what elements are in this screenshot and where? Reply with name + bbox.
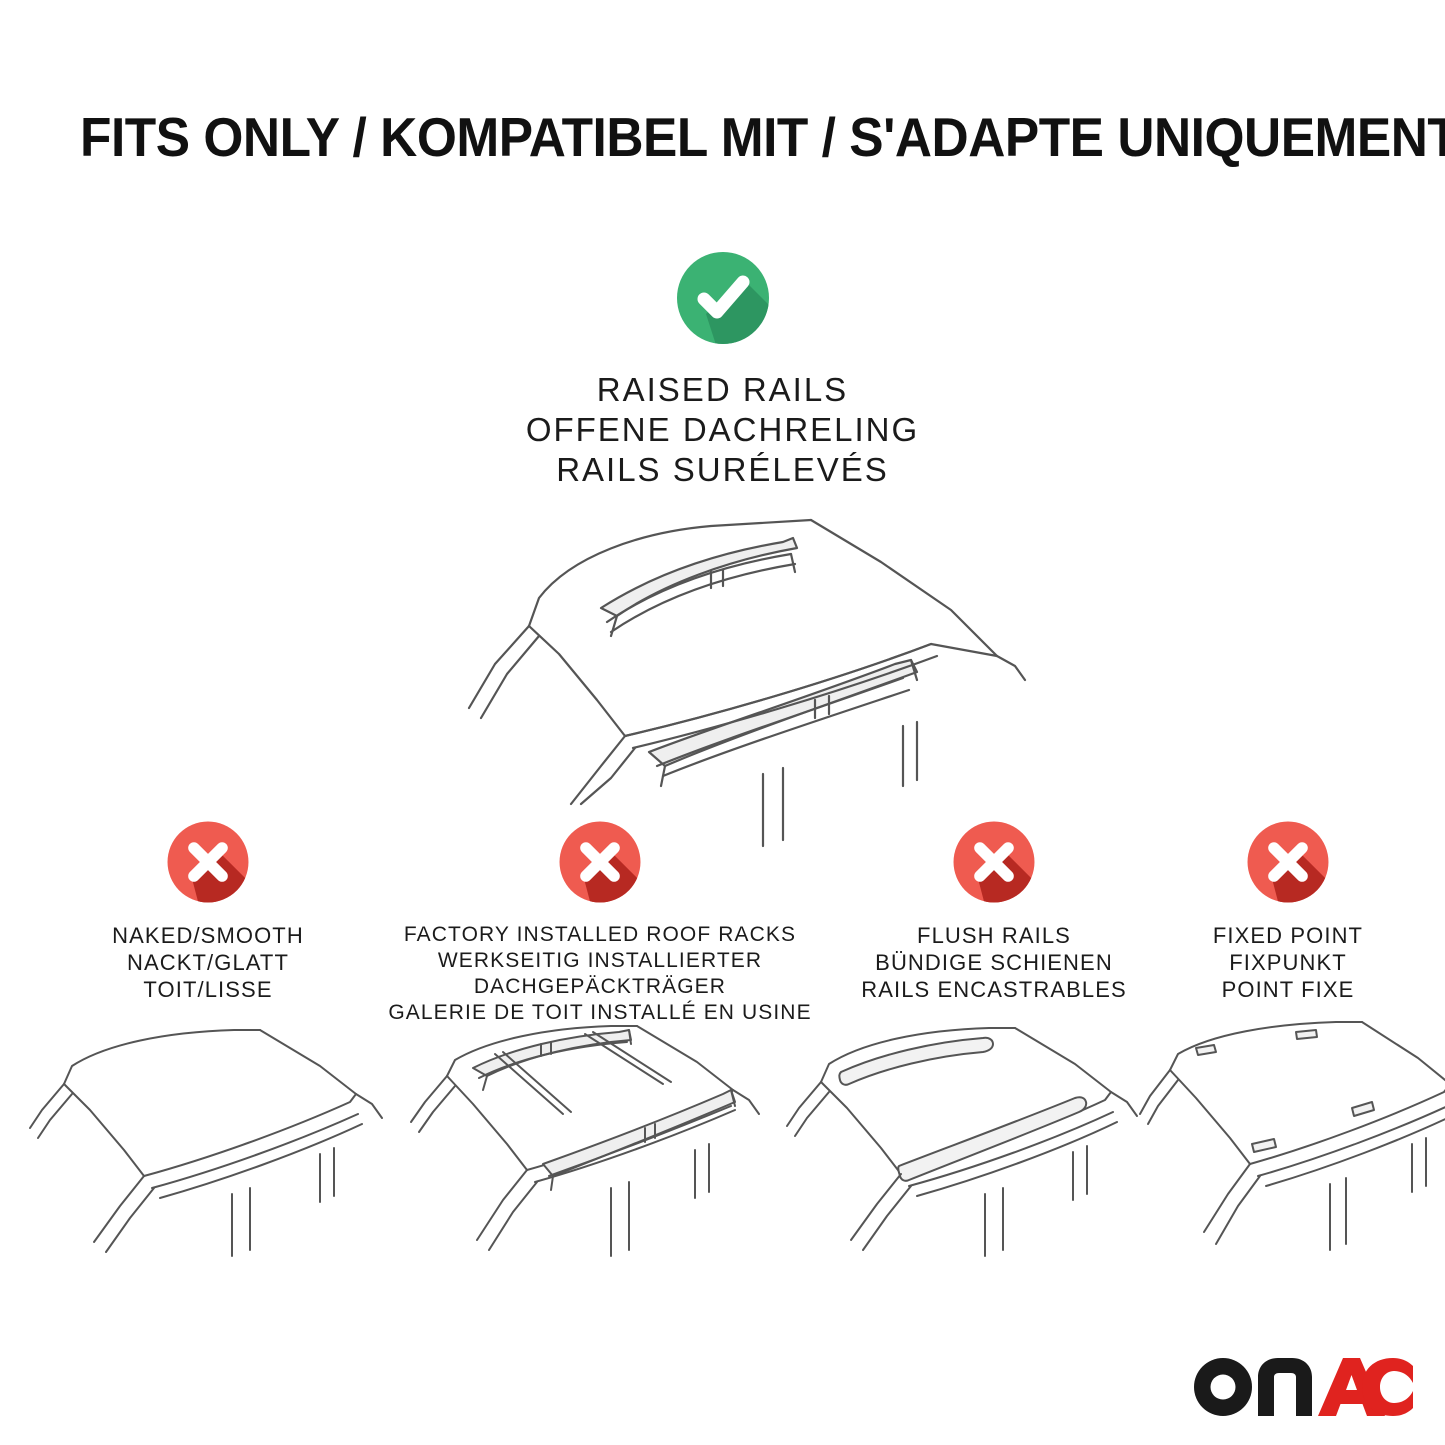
incompatible-label-line-de: FIXPUNKT (1148, 949, 1428, 976)
incompatible-label: NAKED/SMOOTH NACKT/GLATT TOIT/LISSE (58, 922, 358, 1003)
incompatible-label-line-fr: TOIT/LISSE (58, 976, 358, 1003)
incompatible-label: FIXED POINT FIXPUNKT POINT FIXE (1148, 922, 1428, 1003)
compatible-label-line-de: OFFENE DACHRELING (0, 410, 1445, 450)
incompatible-item-factory-roof-racks: FACTORY INSTALLED ROOF RACKS WERKSEITIG … (365, 818, 835, 1026)
incompatible-label-line-en: FLUSH RAILS (848, 922, 1140, 949)
incompatible-label-line-fr: POINT FIXE (1148, 976, 1428, 1003)
incompatible-label-line-de-1: WERKSEITIG INSTALLIERTER (365, 948, 835, 974)
car-roof-fixed-point-illustration (1140, 1018, 1445, 1258)
incompatible-label: FACTORY INSTALLED ROOF RACKS WERKSEITIG … (365, 922, 835, 1026)
incompatible-label: FLUSH RAILS BÜNDIGE SCHIENEN RAILS ENCAS… (848, 922, 1140, 1003)
incompatible-label-line-de-2: DACHGEPÄCKTRÄGER (365, 974, 835, 1000)
logo-letter-m (1258, 1358, 1312, 1416)
red-x-circle-icon (556, 818, 644, 906)
incompatible-item-flush-rails: FLUSH RAILS BÜNDIGE SCHIENEN RAILS ENCAS… (848, 818, 1140, 1003)
incompatible-label-line-en: FIXED POINT (1148, 922, 1428, 949)
compatibility-infographic: FITS ONLY / KOMPATIBEL MIT / S'ADAPTE UN… (0, 0, 1445, 1445)
incompatible-label-line-de: BÜNDIGE SCHIENEN (848, 949, 1140, 976)
logo-letter-o (1194, 1358, 1252, 1416)
car-roof-flush-rails-illustration (775, 1018, 1145, 1258)
car-roof-naked-smooth-illustration (20, 1018, 390, 1258)
incompatible-label-line-fr: RAILS ENCASTRABLES (848, 976, 1140, 1003)
compatible-label-line-en: RAISED RAILS (0, 370, 1445, 410)
incompatible-item-naked-smooth: NAKED/SMOOTH NACKT/GLATT TOIT/LISSE (58, 818, 358, 1003)
red-x-circle-icon (1244, 818, 1332, 906)
omac-logo (1192, 1356, 1414, 1418)
page-title: FITS ONLY / KOMPATIBEL MIT / S'ADAPTE UN… (80, 106, 1286, 168)
compatible-section: RAISED RAILS OFFENE DACHRELING RAILS SUR… (0, 248, 1445, 490)
red-x-circle-icon (164, 818, 252, 906)
car-roof-raised-rails-illustration (411, 504, 1051, 804)
compatible-label: RAISED RAILS OFFENE DACHRELING RAILS SUR… (0, 370, 1445, 490)
incompatible-label-line-en: FACTORY INSTALLED ROOF RACKS (365, 922, 835, 948)
incompatible-label-line-de: NACKT/GLATT (58, 949, 358, 976)
red-x-circle-icon (950, 818, 1038, 906)
car-roof-factory-roof-racks-illustration (395, 1018, 765, 1258)
compatible-label-line-fr: RAILS SURÉLEVÉS (0, 450, 1445, 490)
incompatible-item-fixed-point: FIXED POINT FIXPUNKT POINT FIXE (1148, 818, 1428, 1003)
incompatible-label-line-en: NAKED/SMOOTH (58, 922, 358, 949)
green-check-circle-icon (673, 248, 773, 348)
